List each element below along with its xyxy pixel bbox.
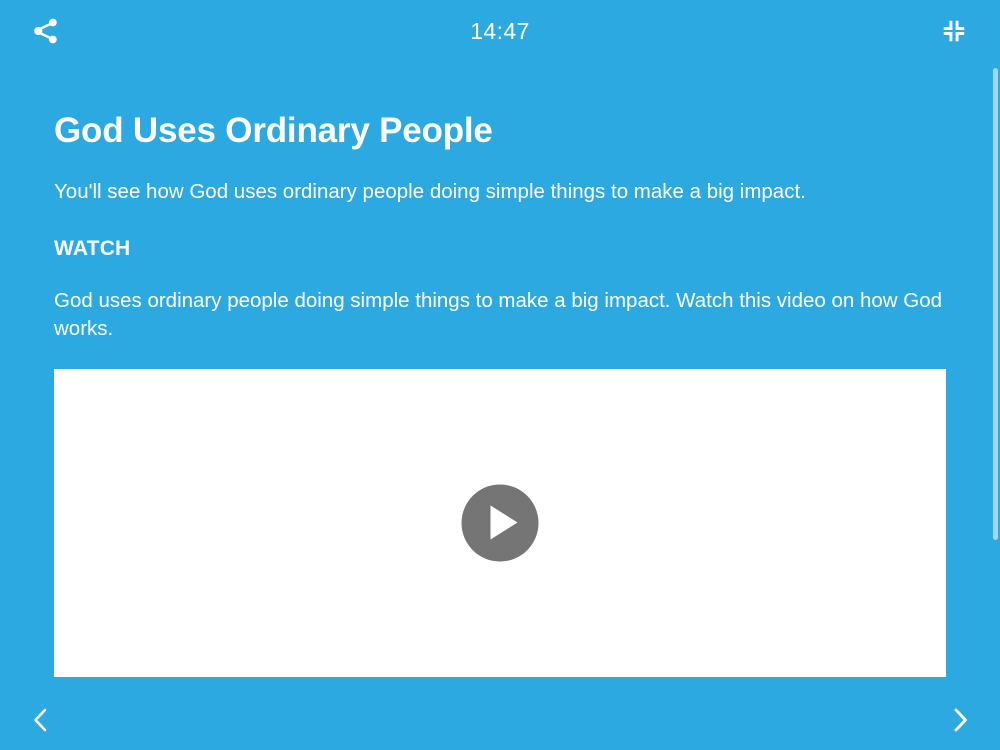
- play-icon: [490, 506, 517, 540]
- play-button[interactable]: [462, 484, 539, 561]
- previous-page-button[interactable]: [18, 698, 62, 742]
- share-button[interactable]: [26, 11, 66, 51]
- video-player[interactable]: [54, 369, 946, 677]
- next-page-button[interactable]: [938, 698, 982, 742]
- exit-fullscreen-button[interactable]: [934, 11, 974, 51]
- compress-icon: [940, 17, 968, 45]
- chevron-right-icon: [949, 705, 971, 735]
- lesson-content: God Uses Ordinary People You'll see how …: [0, 62, 1000, 677]
- page-title: God Uses Ordinary People: [54, 112, 946, 151]
- app-screen: { "theme": { "background": "#2ba9e0", "t…: [0, 0, 1000, 750]
- chevron-left-icon: [29, 705, 51, 735]
- lesson-body-text: God uses ordinary people doing simple th…: [54, 287, 944, 344]
- share-icon: [31, 16, 61, 46]
- vertical-scrollbar[interactable]: [990, 62, 1000, 750]
- top-bar: [0, 0, 1000, 62]
- section-heading-watch: WATCH: [54, 237, 946, 261]
- lesson-lead-text: You'll see how God uses ordinary people …: [54, 178, 946, 206]
- scrollbar-thumb[interactable]: [993, 68, 998, 540]
